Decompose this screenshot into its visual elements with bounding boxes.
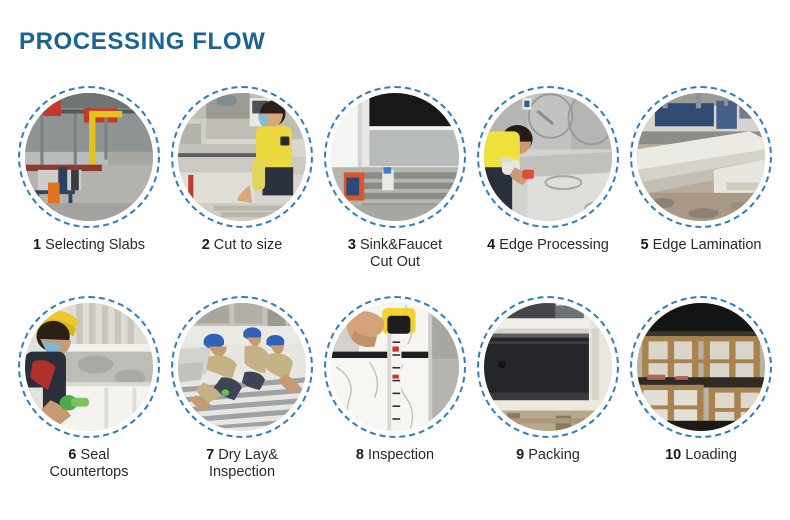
step-number: 9 <box>516 447 524 463</box>
three-workers-blue-hardhats-dry-lay-image <box>178 303 306 431</box>
white-slab-sink-cutout-opening-image <box>331 93 459 221</box>
step-photo-frame <box>630 86 772 228</box>
step-label: Sink&Faucet Cut Out <box>360 237 442 270</box>
step-label: Seal Countertops <box>50 447 129 480</box>
step-caption: 10 Loading <box>665 447 737 464</box>
step-label: Loading <box>685 447 737 463</box>
stacked-wooden-crates-in-container-image <box>637 303 765 431</box>
step-item[interactable]: 5 Edge Lamination <box>630 86 772 271</box>
worker-polishing-granite-countertop-edge-image <box>484 93 612 221</box>
step-caption: 3 Sink&Faucet Cut Out <box>310 237 480 271</box>
page-title: PROCESSING FLOW <box>19 28 265 56</box>
step-caption: 6 Seal Countertops <box>50 447 129 481</box>
step-item[interactable]: 10 Loading <box>630 296 772 481</box>
hand-tape-measure-on-marble-tile-image <box>331 303 459 431</box>
processing-flow-infographic: PROCESSING FLOW <box>0 0 790 520</box>
step-label: Dry Lay& Inspection <box>209 447 278 480</box>
step-label: Packing <box>528 447 580 463</box>
step-caption: 8 Inspection <box>356 447 434 464</box>
step-number: 4 <box>487 237 495 253</box>
step-photo-frame <box>324 86 466 228</box>
step-caption: 1 Selecting Slabs <box>33 237 145 254</box>
step-item[interactable]: 6 Seal Countertops <box>18 296 160 481</box>
laminated-thick-edge-slab-on-machine-image <box>637 93 765 221</box>
step-photo-frame <box>171 296 313 438</box>
step-caption: 4 Edge Processing <box>463 237 633 254</box>
step-label: Edge Lamination <box>653 237 762 253</box>
steps-row-1: 1 Selecting Slabs <box>0 86 790 271</box>
step-photo-frame <box>477 86 619 228</box>
step-photo-frame <box>324 296 466 438</box>
step-number: 3 <box>348 237 356 253</box>
step-label: Selecting Slabs <box>45 237 145 253</box>
step-photo-frame <box>477 296 619 438</box>
step-photo-frame <box>18 86 160 228</box>
step-number: 10 <box>665 447 681 463</box>
step-number: 1 <box>33 237 41 253</box>
step-photo-frame <box>630 296 772 438</box>
dark-packed-crate-with-wood-frame-image <box>484 303 612 431</box>
step-photo-frame <box>171 86 313 228</box>
step-number: 6 <box>68 447 76 463</box>
step-number: 8 <box>356 447 364 463</box>
step-item[interactable]: 3 Sink&Faucet Cut Out <box>324 86 466 271</box>
step-caption: 5 Edge Lamination <box>616 237 786 254</box>
step-label: Cut to size <box>214 237 283 253</box>
step-caption: 9 Packing <box>516 447 580 464</box>
worker-hardhat-sealing-countertop-image <box>25 303 153 431</box>
step-label: Edge Processing <box>499 237 609 253</box>
step-caption: 7 Dry Lay& Inspection <box>206 447 278 481</box>
step-photo-frame <box>18 296 160 438</box>
step-item[interactable]: 4 Edge Processing <box>477 86 619 271</box>
step-number: 5 <box>641 237 649 253</box>
step-item[interactable]: 8 Inspection <box>324 296 466 481</box>
worker-yellow-shirt-at-bridge-saw-image <box>178 93 306 221</box>
step-number: 2 <box>202 237 210 253</box>
step-item[interactable]: 7 Dry Lay& Inspection <box>171 296 313 481</box>
step-number: 7 <box>206 447 214 463</box>
step-label: Inspection <box>368 447 434 463</box>
step-item[interactable]: 1 Selecting Slabs <box>18 86 160 271</box>
step-caption: 2 Cut to size <box>202 237 283 254</box>
steps-row-2: 6 Seal Countertops <box>0 296 790 481</box>
step-item[interactable]: 9 Packing <box>477 296 619 481</box>
step-item[interactable]: 2 Cut to size <box>171 86 313 271</box>
factory-overhead-crane-lifting-slab-image <box>25 93 153 221</box>
